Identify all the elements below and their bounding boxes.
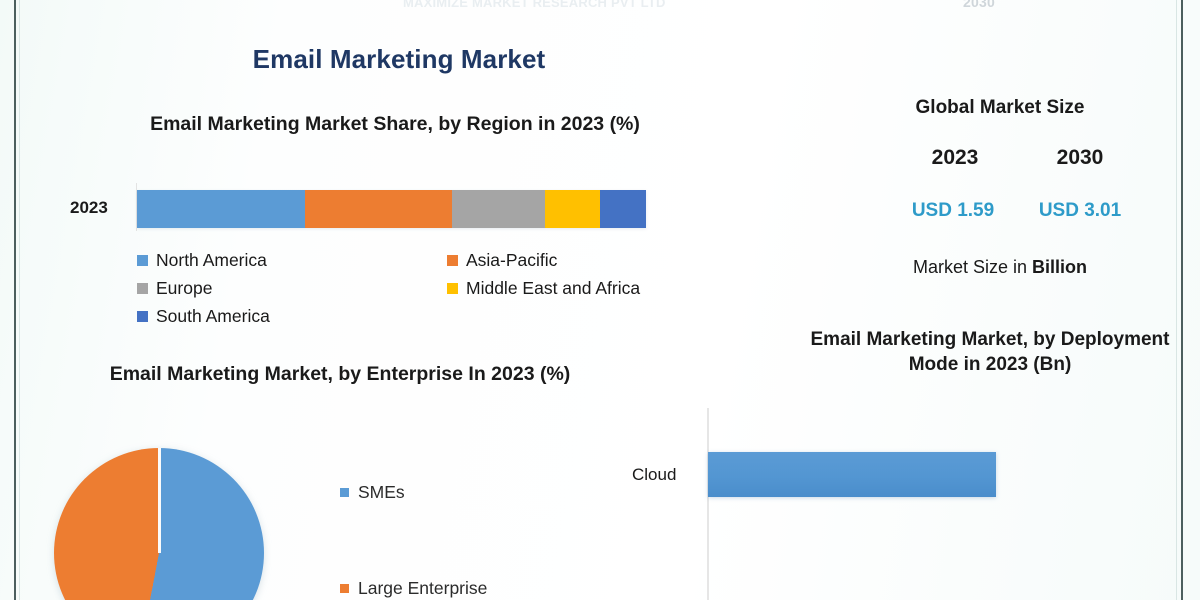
enterprise-pie-chart [54,448,264,600]
region-segment [452,190,545,228]
pie-legend-item: SMEs [340,482,620,503]
region-segment [600,190,646,228]
legend-item: South America [137,306,447,327]
pie-divider [158,448,161,553]
legend-label: Asia-Pacific [466,250,557,271]
infographic-canvas: MAXIMIZE MARKET RESEARCH PVT LTD 2030 Em… [0,0,1200,600]
region-segment [545,190,600,228]
pie-legend-swatch-icon [340,488,349,497]
market-size-unit-prefix: Market Size in [913,257,1032,277]
legend-swatch-icon [137,311,148,322]
legend-label: South America [156,306,270,327]
legend-swatch-icon [447,283,458,294]
pie-legend-item: Large Enterprise [340,578,620,599]
legend-item: North America [137,250,447,271]
region-category-label: 2023 [70,198,108,218]
region-segment [305,190,452,228]
pie-legend-swatch-icon [340,584,349,593]
legend-row: EuropeMiddle East and Africa [137,278,697,299]
region-legend: North AmericaAsia-PacificEuropeMiddle Ea… [137,250,697,334]
legend-label: Europe [156,278,212,299]
deployment-cloud-bar [708,452,996,497]
enterprise-chart-title: Email Marketing Market, by Enterprise In… [60,362,620,387]
legend-swatch-icon [137,283,148,294]
legend-swatch-icon [447,255,458,266]
legend-label: Middle East and Africa [466,278,640,299]
deployment-category-label: Cloud [632,465,676,485]
legend-item: Middle East and Africa [447,278,697,299]
legend-row: North AmericaAsia-Pacific [137,250,697,271]
deployment-bar-chart: Cloud [600,400,1200,600]
pie-legend-label: SMEs [358,482,405,503]
market-size-value-start: USD 1.59 [883,200,1023,222]
deployment-axis-line [707,408,709,600]
legend-swatch-icon [137,255,148,266]
global-market-size-panel: 2023 2030 USD 1.59 USD 3.01 Market Size … [820,0,1180,300]
legend-label: North America [156,250,267,271]
market-size-unit-bold: Billion [1032,257,1087,277]
legend-item: Europe [137,278,447,299]
region-segment [137,190,305,228]
pie-legend-label: Large Enterprise [358,578,487,599]
legend-item: Asia-Pacific [447,250,697,271]
enterprise-legend: SMEsLarge Enterprise [340,482,620,600]
market-size-year-end: 2030 [1020,146,1140,170]
region-stacked-bar-chart: 2023 [0,0,700,260]
region-stacked-bar [137,190,646,228]
deployment-chart-title: Email Marketing Market, by Deployment Mo… [790,328,1190,377]
market-size-year-start: 2023 [895,146,1015,170]
legend-row: South America [137,306,697,327]
market-size-unit-note: Market Size in Billion [830,257,1170,278]
market-size-value-end: USD 3.01 [1010,200,1150,222]
